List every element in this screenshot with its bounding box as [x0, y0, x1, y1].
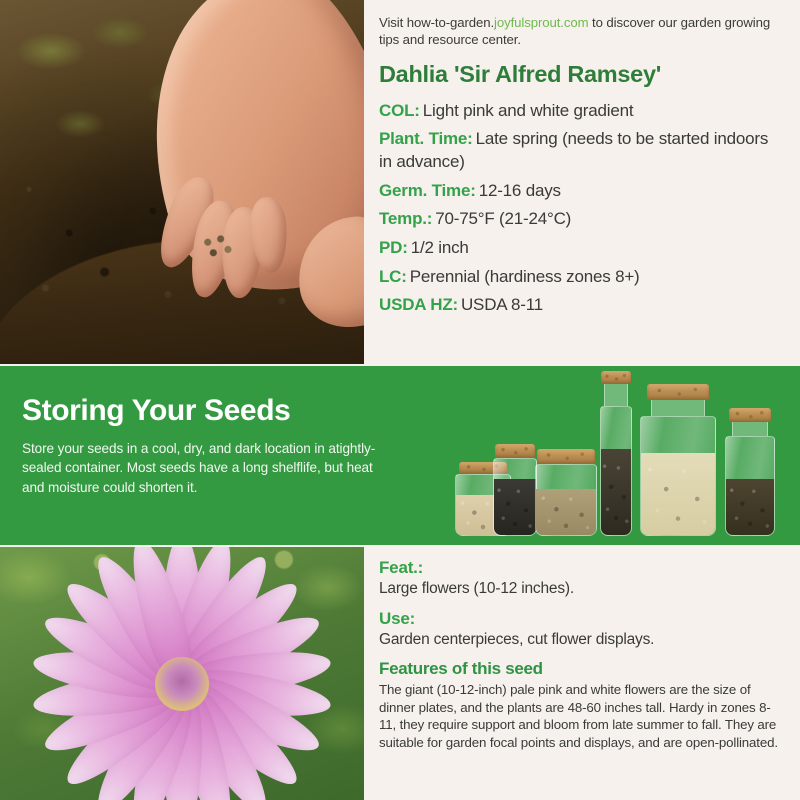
jar-seed-fill	[536, 489, 596, 535]
bottom-section: Feat.: Large flowers (10-12 inches). Use…	[0, 547, 800, 800]
jar-body	[493, 458, 537, 536]
plant-info-panel: Visit how-to-garden.joyfulsprout.com to …	[371, 0, 800, 364]
features-block: Features of this seed The giant (10-12-i…	[379, 659, 784, 752]
jar-body	[535, 464, 597, 536]
spec-label: Germ. Time:	[379, 181, 476, 200]
seeds-in-hand	[197, 229, 241, 262]
detail-block-feat: Feat.: Large flowers (10-12 inches).	[379, 558, 784, 600]
spec-label: Plant. Time:	[379, 129, 473, 148]
spec-value: Light pink and white gradient	[423, 101, 634, 120]
storing-body: Store your seeds in a cool, dry, and dar…	[22, 439, 382, 497]
spec-row-temp: Temp.:70-75°F (21-24°C)	[379, 208, 784, 231]
features-body: The giant (10-12-inch) pale pink and whi…	[379, 681, 784, 752]
bloom-center	[155, 657, 209, 711]
jar-body	[600, 406, 632, 536]
page-title: Dahlia 'Sir Alfred Ramsey'	[379, 61, 784, 88]
jar-cork-lid	[647, 384, 709, 400]
spec-value: Perennial (hardiness zones 8+)	[410, 267, 640, 286]
jar-brown-grain	[535, 449, 597, 536]
jar-tall-black	[600, 371, 632, 536]
spec-row-col: COL:Light pink and white gradient	[379, 100, 784, 123]
jar-dark-seeds	[493, 444, 537, 536]
jar-cork-lid	[495, 444, 535, 458]
spec-row-pd: PD:1/2 inch	[379, 237, 784, 260]
seed-jars-illustration	[455, 376, 785, 536]
jar-sunflower	[725, 408, 775, 536]
spec-value: 12-16 days	[479, 181, 561, 200]
dahlia-flower-photo	[0, 547, 364, 800]
detail-value: Large flowers (10-12 inches).	[379, 579, 784, 599]
hands-sowing-seeds-photo	[0, 0, 364, 364]
spec-value: 1/2 inch	[411, 238, 469, 257]
intro-before: Visit how-to-garden.	[379, 15, 494, 30]
jar-cork-lid	[601, 371, 631, 384]
spec-label: USDA HZ:	[379, 295, 458, 314]
jar-neck	[604, 384, 627, 406]
storing-title: Storing Your Seeds	[22, 394, 382, 428]
top-section: Visit how-to-garden.joyfulsprout.com to …	[0, 0, 800, 364]
dahlia-bloom	[17, 547, 347, 800]
storing-seeds-band: Storing Your Seeds Store your seeds in a…	[0, 366, 800, 545]
jar-neck	[732, 422, 768, 436]
features-heading: Features of this seed	[379, 659, 784, 679]
jar-neck	[651, 400, 706, 416]
spec-value: USDA 8-11	[461, 295, 543, 314]
spec-label: COL:	[379, 101, 420, 120]
spec-label: PD:	[379, 238, 408, 257]
jar-large-pale	[640, 384, 716, 536]
jar-seed-fill	[641, 453, 715, 535]
jar-body	[640, 416, 716, 536]
spec-label: LC:	[379, 267, 407, 286]
spec-row-germ-time: Germ. Time:12-16 days	[379, 180, 784, 203]
intro-text: Visit how-to-garden.joyfulsprout.com to …	[379, 14, 784, 49]
details-panel: Feat.: Large flowers (10-12 inches). Use…	[371, 547, 800, 800]
detail-block-use: Use: Garden centerpieces, cut flower dis…	[379, 609, 784, 651]
jar-seed-fill	[601, 449, 631, 535]
jar-body	[725, 436, 775, 536]
brand-link[interactable]: joyfulsprout.com	[494, 15, 588, 30]
spec-label: Temp.:	[379, 209, 432, 228]
jar-seed-fill	[726, 479, 774, 535]
detail-value: Garden centerpieces, cut flower displays…	[379, 630, 784, 650]
spec-row-lc: LC:Perennial (hardiness zones 8+)	[379, 266, 784, 289]
jar-cork-lid	[729, 408, 771, 422]
jar-seed-fill	[494, 479, 536, 535]
spec-list: COL:Light pink and white gradient Plant.…	[379, 100, 784, 317]
spec-row-usda-hz: USDA HZ:USDA 8-11	[379, 294, 784, 317]
jar-cork-lid	[537, 449, 595, 464]
detail-label: Use:	[379, 609, 784, 629]
infographic-page: Visit how-to-garden.joyfulsprout.com to …	[0, 0, 800, 800]
detail-label: Feat.:	[379, 558, 784, 578]
storing-text-block: Storing Your Seeds Store your seeds in a…	[22, 394, 382, 497]
spec-value: 70-75°F (21-24°C)	[435, 209, 571, 228]
spec-row-plant-time: Plant. Time:Late spring (needs to be sta…	[379, 128, 784, 173]
